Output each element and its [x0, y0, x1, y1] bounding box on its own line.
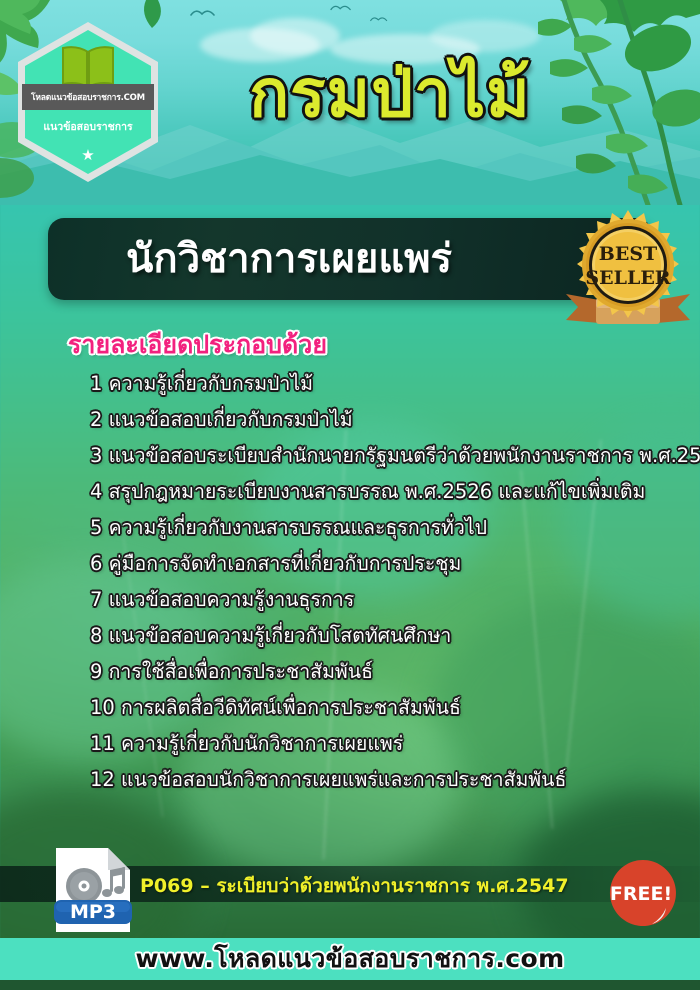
section-heading: รายละเอียดประกอบด้วย — [68, 330, 327, 360]
list-item: 10 การผลิตสื่อวีดิทัศน์เพื่อการประชาสัมพ… — [90, 690, 690, 726]
list-item: 12 แนวข้อสอบนักวิชาการเผยแพร่และการประชา… — [90, 762, 690, 798]
list-item: 11 ความรู้เกี่ยวกับนักวิชาการเผยแพร่ — [90, 726, 690, 762]
best-seller-line2: SELLER — [585, 267, 670, 289]
logo-subtitle-text: แนวข้อสอบราชการ — [18, 118, 158, 135]
product-code-text: P069 – ระเบียบว่าด้วยพนักงานราชการ พ.ศ.2… — [140, 871, 569, 901]
free-label: FREE! — [610, 883, 672, 905]
content-list: 1 ความรู้เกี่ยวกับกรมป่าไม้ 2 แนวข้อสอบเ… — [90, 366, 690, 798]
mp3-file-icon: MP3 — [52, 846, 136, 934]
list-item: 3 แนวข้อสอบระเบียบสำนักนายกรัฐมนตรีว่าด้… — [90, 438, 690, 474]
website-url-bar[interactable]: www.โหลดแนวข้อสอบราชการ.com — [0, 938, 700, 980]
page-title: กรมป่าไม้ — [175, 55, 605, 133]
logo-banner-text: โหลดแนวข้อสอบราชการ.COM — [31, 90, 145, 104]
subtitle-text: นักวิชาการเผยแพร่ — [48, 237, 452, 281]
website-url-text: www.โหลดแนวข้อสอบราชการ.com — [135, 939, 564, 979]
list-item: 1 ความรู้เกี่ยวกับกรมป่าไม้ — [90, 366, 690, 402]
list-item: 5 ความรู้เกี่ยวกับงานสารบรรณและธุรการทั่… — [90, 510, 690, 546]
best-seller-badge: BEST SELLER — [566, 208, 690, 332]
subtitle-banner: นักวิชาการเผยแพร่ — [48, 218, 652, 300]
list-item: 9 การใช้สื่อเพื่อการประชาสัมพันธ์ — [90, 654, 690, 690]
site-logo-badge[interactable]: โหลดแนวข้อสอบราชการ.COM แนวข้อสอบราชการ … — [18, 22, 158, 182]
mp3-label: MP3 — [70, 901, 116, 923]
list-item: 4 สรุปกฎหมายระเบียบงานสารบรรณ พ.ศ.2526 แ… — [90, 474, 690, 510]
list-item: 6 คู่มือการจัดทำเอกสารที่เกี่ยวกับการประ… — [90, 546, 690, 582]
star-icon: ★ — [81, 148, 94, 163]
list-item: 2 แนวข้อสอบเกี่ยวกับกรมป่าไม้ — [90, 402, 690, 438]
best-seller-line1: BEST — [599, 243, 657, 265]
bottom-edge-strip — [0, 980, 700, 990]
list-item: 8 แนวข้อสอบความรู้เกี่ยวกับโสตทัศนศึกษา — [90, 618, 690, 654]
list-item: 7 แนวข้อสอบความรู้งานธุรการ — [90, 582, 690, 618]
free-sticker: FREE! — [608, 858, 678, 930]
logo-banner: โหลดแนวข้อสอบราชการ.COM — [22, 84, 154, 110]
poster-root: โหลดแนวข้อสอบราชการ.COM แนวข้อสอบราชการ … — [0, 0, 700, 990]
